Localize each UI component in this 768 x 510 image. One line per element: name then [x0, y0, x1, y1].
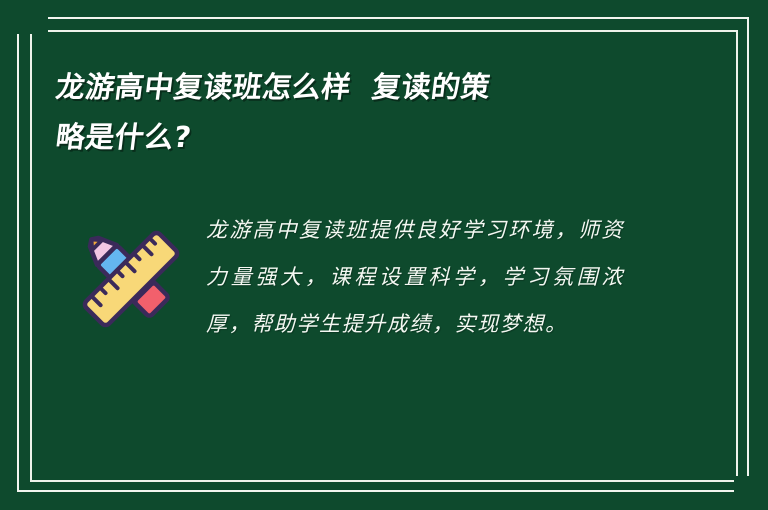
page-title-line-1: 龙游高中复读班怎么样 复读的策 — [53, 62, 699, 112]
body-paragraph: 龙游高中复读班提供良好学习环境，师资力量强大，课程设置科学，学习氛围浓厚，帮助学… — [206, 207, 624, 348]
frame-corner-mask-bottom-right — [734, 476, 768, 510]
page-title: 龙游高中复读班怎么样 复读的策 略是什么? — [56, 62, 696, 162]
illustration-container — [56, 205, 206, 339]
page-title-line-2: 略是什么? — [53, 112, 699, 162]
ruler-and-pencil-icon — [71, 219, 191, 339]
content-row: 龙游高中复读班提供良好学习环境，师资力量强大，课程设置科学，学习氛围浓厚，帮助学… — [56, 205, 696, 348]
frame-corner-mask-top-left — [0, 0, 48, 34]
poster-canvas: 龙游高中复读班怎么样 复读的策 略是什么? — [0, 0, 768, 510]
